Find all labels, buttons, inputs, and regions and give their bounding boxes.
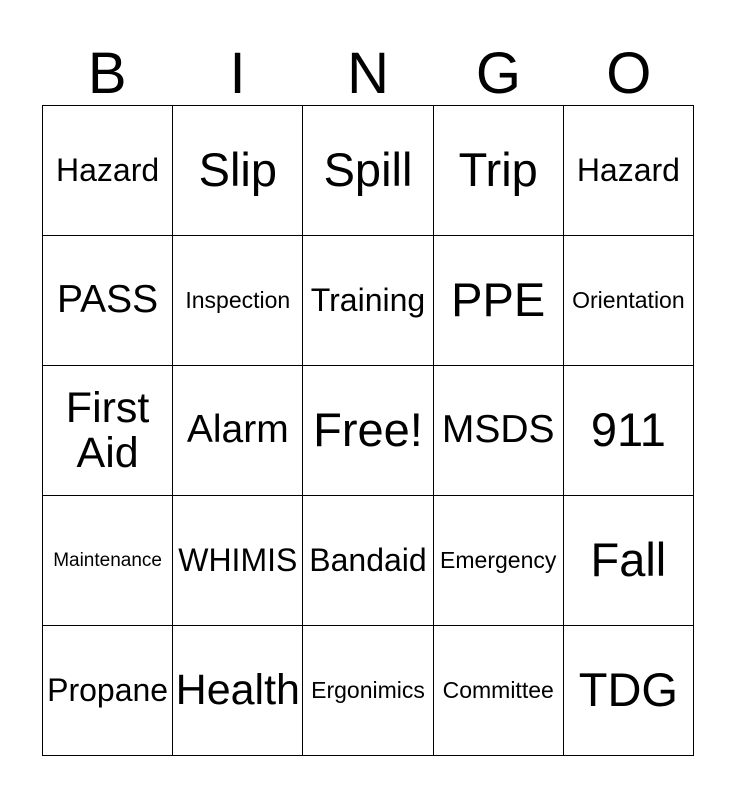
bingo-cell[interactable]: 911	[564, 366, 694, 496]
bingo-cell[interactable]: WHIMIS	[173, 496, 303, 626]
bingo-cell-label: Propane	[47, 674, 168, 707]
bingo-cell[interactable]: Hazard	[43, 106, 173, 236]
bingo-cell-label: Maintenance	[53, 551, 162, 571]
bingo-cell[interactable]: Trip	[434, 106, 564, 236]
bingo-cell-label: Emergency	[440, 549, 556, 573]
bingo-header-letter-n: N	[303, 26, 433, 105]
bingo-cell[interactable]: Spill	[303, 106, 433, 236]
bingo-cell[interactable]: Ergonimics	[303, 626, 433, 756]
bingo-header-letters: B I N G O	[42, 26, 694, 105]
bingo-cell-label: Slip	[199, 146, 277, 195]
bingo-cell[interactable]: TDG	[564, 626, 694, 756]
bingo-cell[interactable]: Bandaid	[303, 496, 433, 626]
bingo-cell-label: Spill	[324, 146, 413, 195]
bingo-cell[interactable]: First Aid	[43, 366, 173, 496]
bingo-grid: Hazard Slip Spill Trip Hazard PASS Inspe…	[42, 105, 694, 756]
bingo-cell[interactable]: Emergency	[434, 496, 564, 626]
bingo-cell-label: Inspection	[185, 289, 290, 313]
bingo-cell-label: PPE	[451, 276, 545, 325]
bingo-cell-label: Trip	[459, 146, 538, 195]
bingo-cell-label: WHIMIS	[178, 544, 297, 577]
bingo-cell-label: Health	[176, 668, 300, 713]
bingo-cell[interactable]: Inspection	[173, 236, 303, 366]
bingo-header-letter-i: I	[172, 26, 302, 105]
bingo-card: B I N G O Hazard Slip Spill Trip Hazard …	[0, 0, 736, 800]
bingo-cell[interactable]: PPE	[434, 236, 564, 366]
bingo-cell[interactable]: Alarm	[173, 366, 303, 496]
bingo-cell[interactable]: Fall	[564, 496, 694, 626]
bingo-cell[interactable]: Maintenance	[43, 496, 173, 626]
bingo-cell-free[interactable]: Free!	[303, 366, 433, 496]
bingo-cell-label: Alarm	[187, 410, 289, 451]
bingo-cell[interactable]: Slip	[173, 106, 303, 236]
bingo-cell[interactable]: Hazard	[564, 106, 694, 236]
bingo-cell[interactable]: PASS	[43, 236, 173, 366]
bingo-cell-label: MSDS	[442, 410, 555, 451]
bingo-header-letter-o: O	[564, 26, 694, 105]
bingo-cell-label: Ergonimics	[311, 679, 425, 703]
bingo-cell[interactable]: Health	[173, 626, 303, 756]
bingo-cell-label: PASS	[57, 280, 158, 321]
bingo-cell-label: TDG	[579, 666, 678, 715]
bingo-cell[interactable]: Training	[303, 236, 433, 366]
bingo-cell-label: Fall	[591, 536, 667, 585]
bingo-cell-label: First Aid	[66, 386, 150, 475]
bingo-cell[interactable]: Committee	[434, 626, 564, 756]
bingo-cell-label: Committee	[443, 679, 554, 703]
bingo-cell-label: Training	[311, 284, 425, 317]
bingo-cell-label: Hazard	[56, 154, 159, 187]
bingo-cell[interactable]: Propane	[43, 626, 173, 756]
bingo-cell-label: Free!	[313, 406, 423, 455]
bingo-cell[interactable]: MSDS	[434, 366, 564, 496]
bingo-header-letter-b: B	[42, 26, 172, 105]
bingo-cell-label: Orientation	[572, 289, 685, 313]
bingo-cell-label: Bandaid	[309, 544, 426, 577]
bingo-cell[interactable]: Orientation	[564, 236, 694, 366]
bingo-header-letter-g: G	[433, 26, 563, 105]
bingo-cell-label: 911	[591, 406, 666, 455]
bingo-cell-label: Hazard	[577, 154, 680, 187]
